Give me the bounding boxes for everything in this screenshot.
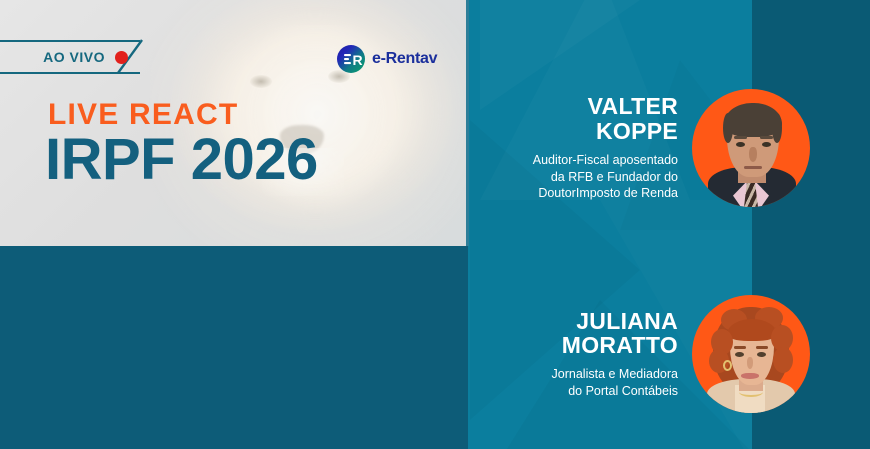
e-rentav-logo-text: e-Rentav (372, 50, 437, 68)
speaker-text-block: VALTER KOPPE Auditor-Fiscal aposentado d… (492, 94, 692, 201)
speaker-name-line-1: JULIANA (492, 309, 678, 333)
speaker-name-line-1: VALTER (492, 94, 678, 118)
speaker-name-line-2: KOPPE (492, 119, 678, 143)
portrait-brow-left (734, 346, 746, 349)
portrait-eye-right (762, 142, 771, 147)
speaker-text-block: JULIANA MORATTO Jornalista e Mediadora d… (492, 309, 692, 400)
speaker-role-line-2: da RFB e Fundador do (492, 169, 678, 186)
lion-eye-left (250, 75, 272, 88)
portrait-hair-side-right (772, 113, 782, 143)
speaker-name-line-2: MORATTO (492, 333, 678, 357)
e-rentav-mark-icon: R (337, 45, 365, 73)
badge-content: AO VIVO (0, 42, 140, 72)
speaker-avatar (692, 295, 810, 413)
live-event-banner: AO VIVO R e-Rentav LIVE REACT IRPF 2026 … (0, 0, 870, 449)
portrait-eye-right (757, 352, 766, 357)
speaker-name: VALTER KOPPE (492, 94, 678, 143)
portrait-hair-side-left (723, 113, 733, 143)
svg-text:R: R (353, 52, 363, 68)
speaker-role: Jornalista e Mediadora do Portal Contábe… (492, 366, 678, 399)
speaker-name: JULIANA MORATTO (492, 309, 678, 358)
live-dot-icon (115, 51, 128, 64)
speaker-avatar (692, 89, 810, 207)
speaker-role: Auditor-Fiscal aposentado da RFB e Funda… (492, 152, 678, 202)
speaker-card-valter-koppe: VALTER KOPPE Auditor-Fiscal aposentado d… (492, 82, 810, 214)
portrait-nose (747, 357, 753, 369)
portrait-earring (723, 360, 732, 371)
speaker-role-line-1: Jornalista e Mediadora (492, 366, 678, 383)
speaker-role-line-3: DoutorImposto de Renda (492, 185, 678, 202)
left-top-panel: AO VIVO R e-Rentav LIVE REACT IRPF 2026 (0, 0, 468, 246)
e-rentav-logo[interactable]: R e-Rentav (337, 45, 437, 73)
live-badge: AO VIVO (0, 40, 150, 74)
page-title: IRPF 2026 (45, 131, 318, 189)
live-badge-label: AO VIVO (43, 49, 105, 65)
portrait-nose (749, 147, 757, 162)
portrait-hair-curl (773, 347, 793, 373)
portrait-eye-left (735, 352, 744, 357)
portrait-brow-left (734, 136, 747, 139)
speaker-portrait-image (706, 95, 798, 207)
left-bottom-panel: COBERTURA AO VIVO DAS REGRAS DO IRPF 202… (0, 246, 468, 449)
portrait-lips (741, 373, 759, 379)
panel-divider-line (466, 0, 469, 246)
portrait-brow-right (756, 346, 768, 349)
speaker-portrait-image (703, 303, 799, 413)
speaker-card-juliana-moratto: JULIANA MORATTO Jornalista e Mediadora d… (492, 288, 810, 420)
speaker-role-line-1: Auditor-Fiscal aposentado (492, 152, 678, 169)
speaker-role-line-2: do Portal Contábeis (492, 383, 678, 400)
portrait-necklace (739, 387, 763, 397)
portrait-mouth (744, 166, 762, 169)
portrait-brow-right (760, 136, 773, 139)
portrait-eye-left (736, 142, 745, 147)
